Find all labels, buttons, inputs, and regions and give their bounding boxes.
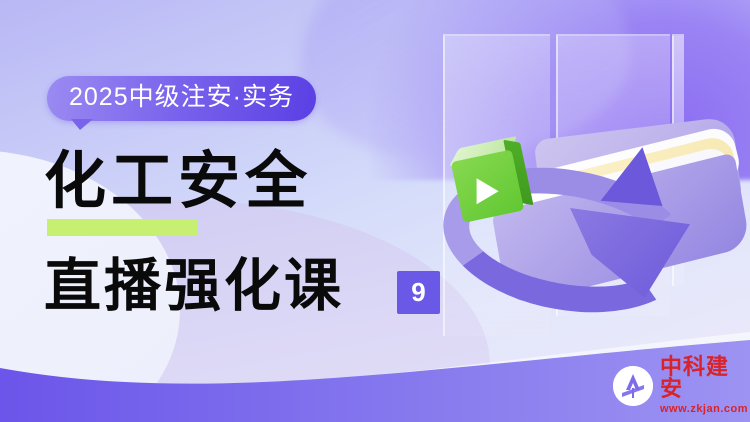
course-poster: 2025中级注安·实务 化工安全 直播强化课 9 中科建安 www.zkjan.… bbox=[0, 0, 750, 422]
brand-url: www.zkjan.com bbox=[660, 404, 750, 415]
brand-logo: 中科建安 www.zkjan.com bbox=[613, 356, 750, 415]
mountain-peak-icon bbox=[613, 366, 653, 406]
page-title-line-1: 化工安全 bbox=[44, 150, 312, 212]
headline-highlight-bar bbox=[47, 219, 197, 236]
brand-logo-text: 中科建安 www.zkjan.com bbox=[660, 356, 750, 415]
course-category-badge: 2025中级注安·实务 bbox=[47, 76, 316, 121]
page-title-line-2: 直播强化课 bbox=[44, 258, 344, 315]
play-cube-icon bbox=[442, 132, 544, 234]
brand-name: 中科建安 bbox=[660, 356, 750, 400]
play-triangle-icon bbox=[477, 178, 499, 204]
episode-number-badge: 9 bbox=[397, 271, 440, 314]
